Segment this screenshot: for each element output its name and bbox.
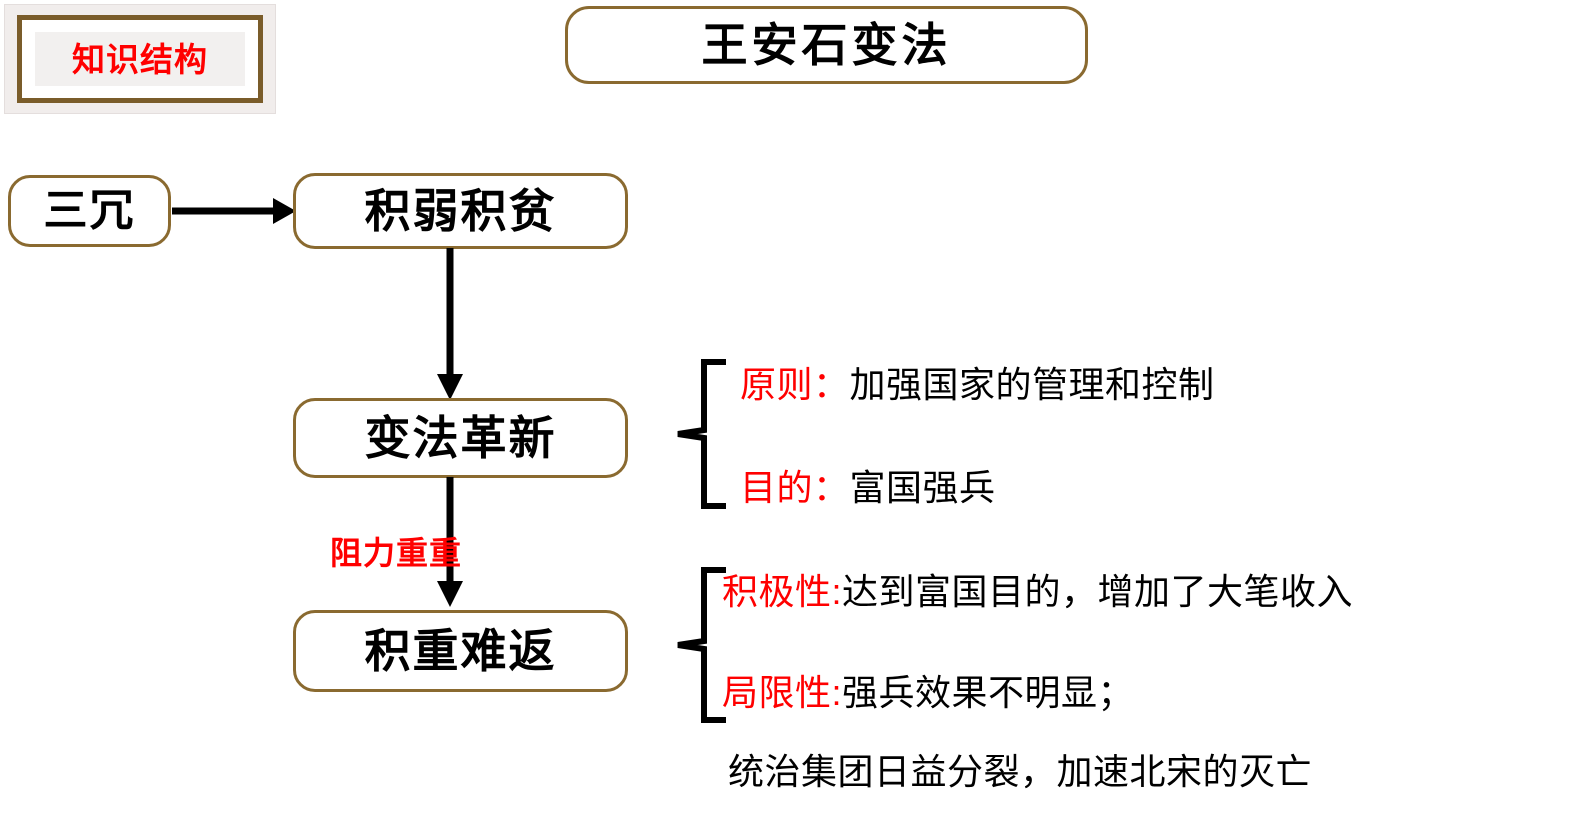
detail-line-purpose: 目的：富国强兵 (740, 468, 996, 508)
flow-node-jiruopinjian-label: 积弱积贫 (365, 188, 557, 234)
detail-value-principle: 加强国家的管理和控制 (850, 364, 1215, 405)
detail-value-purpose: 富国强兵 (850, 467, 996, 508)
badge-label: 知识结构 (72, 43, 208, 76)
flow-node-jiruopinjian: 积弱积贫 (293, 173, 628, 249)
flow-node-sanrong-label: 三冗 (44, 189, 136, 233)
detail-value-positive: 达到富国目的，增加了大笔收入 (842, 571, 1353, 612)
detail-value-limitation: 强兵效果不明显； (842, 672, 1134, 713)
diagram-canvas: 知识结构 王安石变法 三冗 积弱积贫 变法革新 阻力重重 积重难返 (0, 0, 1593, 834)
badge-frame: 知识结构 (17, 15, 263, 103)
detail-line-positive: 积极性:达到富国目的，增加了大笔收入 (722, 572, 1353, 612)
badge-inner-panel: 知识结构 (35, 32, 245, 86)
arrow-jiruo-to-biangfa (430, 248, 470, 400)
detail-value-limitation-cont: 统治集团日益分裂，加速北宋的灭亡 (728, 751, 1312, 792)
flow-node-biangfagexin-label: 变法革新 (365, 415, 557, 461)
detail-line-limitation-cont: 统治集团日益分裂，加速北宋的灭亡 (728, 752, 1312, 792)
detail-key-purpose: 目的： (740, 467, 850, 508)
flow-node-sanrong: 三冗 (8, 175, 171, 247)
brace-reform-group (668, 358, 732, 510)
page-title: 王安石变法 (565, 6, 1088, 84)
detail-key-positive: 积极性: (722, 571, 842, 612)
flow-node-jizhongnanfan-label: 积重难返 (365, 628, 557, 674)
flow-node-biangfagexin: 变法革新 (293, 398, 628, 478)
knowledge-structure-badge: 知识结构 (4, 4, 276, 114)
detail-line-limitation: 局限性:强兵效果不明显； (722, 673, 1134, 713)
flow-node-jizhongnanfan: 积重难返 (293, 610, 628, 692)
arrow-sanrong-to-jiruo (170, 188, 298, 234)
page-title-label: 王安石变法 (702, 22, 952, 68)
detail-key-limitation: 局限性: (722, 672, 842, 713)
edge-label-resistance: 阻力重重 (330, 528, 462, 574)
detail-line-principle: 原则：加强国家的管理和控制 (740, 365, 1215, 405)
detail-key-principle: 原则： (740, 364, 850, 405)
